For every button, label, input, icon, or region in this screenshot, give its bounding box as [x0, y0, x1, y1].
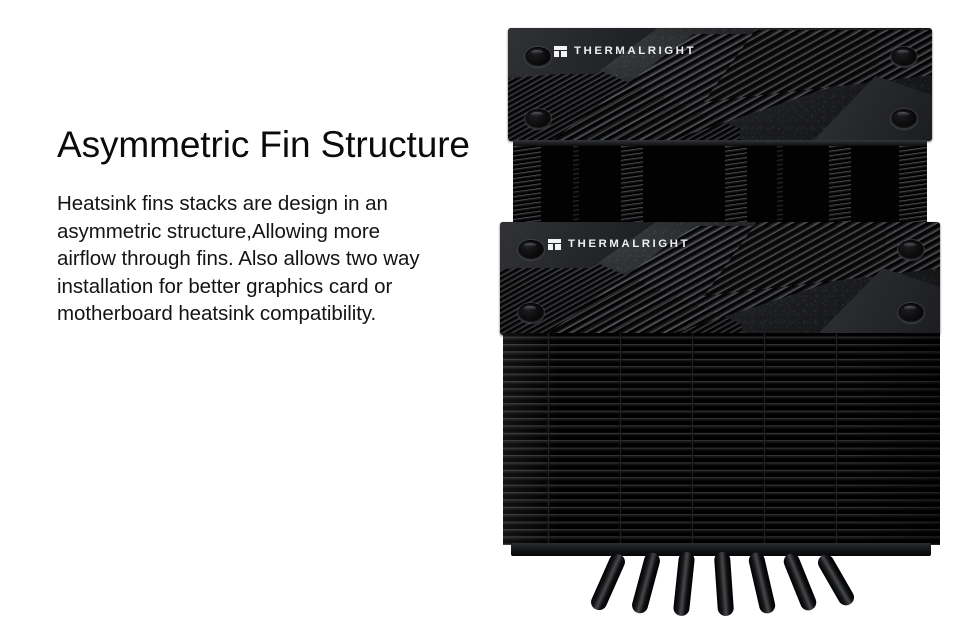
brand-name-mid: THERMALRIGHT	[568, 239, 690, 250]
screw-cap-top-right-mid	[898, 240, 924, 260]
heat-pipe	[747, 552, 777, 615]
screw-cap-bottom-right	[891, 109, 917, 129]
screw-cap-top-right	[891, 47, 917, 67]
flat-facet-right	[808, 76, 932, 141]
fin-rows	[503, 333, 940, 545]
ridge-facet-lower-left-mid	[500, 262, 742, 335]
ridge-facet-lower-left	[508, 70, 740, 141]
thermalright-mark-icon	[554, 46, 567, 57]
screw-cap-bottom-right-mid	[898, 303, 924, 323]
brand-name-top: THERMALRIGHT	[574, 46, 696, 57]
thermalright-mark-icon	[548, 239, 561, 250]
flat-facet-right-mid	[812, 268, 940, 335]
screw-cap-bottom-left	[525, 109, 551, 129]
text-panel: Asymmetric Fin Structure Heatsink fins s…	[57, 122, 477, 328]
product-image: THERMALRIGHT	[495, 20, 950, 600]
brand-logo-top: THERMALRIGHT	[554, 46, 696, 58]
middle-cover-plate: THERMALRIGHT	[500, 222, 940, 335]
upper-stack-top-rail	[513, 140, 927, 146]
fin-seam	[547, 333, 550, 545]
ridge-facet-center-mid	[542, 226, 886, 335]
heat-pipe	[714, 552, 734, 616]
fin-seam	[763, 333, 766, 545]
product-feature-banner: Asymmetric Fin Structure Heatsink fins s…	[0, 0, 970, 600]
brand-logo-mid: THERMALRIGHT	[548, 239, 690, 251]
top-cover-plate: THERMALRIGHT	[508, 28, 932, 141]
lower-fin-stack	[503, 333, 940, 545]
fin-seam	[691, 333, 694, 545]
ridge-facet-center	[548, 34, 878, 141]
surface-grain-top	[508, 28, 932, 141]
surface-grain-mid	[500, 222, 940, 335]
feature-description: Heatsink fins stacks are design in an as…	[57, 190, 429, 328]
heat-pipe	[590, 552, 628, 613]
fin-seam	[835, 333, 838, 545]
screw-cap-top-left-mid	[518, 240, 544, 260]
screw-cap-bottom-left-mid	[518, 303, 544, 323]
heat-pipe	[781, 552, 818, 613]
heat-pipe	[630, 552, 662, 615]
page-title: Asymmetric Fin Structure	[57, 122, 477, 168]
heat-pipe	[673, 552, 696, 617]
screw-cap-top-left	[525, 47, 551, 67]
fin-seam	[619, 333, 622, 545]
heat-pipes	[590, 552, 865, 620]
